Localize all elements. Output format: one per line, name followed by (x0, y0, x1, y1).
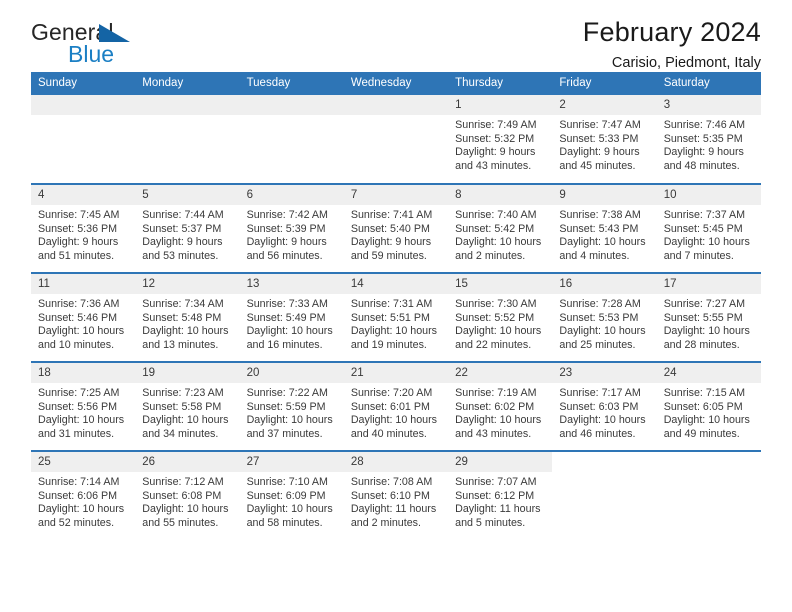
sun-info-line: and 46 minutes. (559, 428, 650, 442)
sun-info-line: Sunrise: 7:22 AM (247, 387, 338, 401)
day-cell-body: 9Sunrise: 7:38 AMSunset: 5:43 PMDaylight… (552, 185, 656, 272)
sun-info-line: Sunrise: 7:49 AM (455, 119, 546, 133)
sun-info-line: and 4 minutes. (559, 250, 650, 264)
sun-info-line: Sunset: 5:33 PM (559, 133, 650, 147)
day-number: 6 (240, 185, 344, 205)
day-cell-body: 17Sunrise: 7:27 AMSunset: 5:55 PMDayligh… (657, 274, 761, 361)
weekday-monday: Monday (135, 72, 239, 95)
calendar-day-cell[interactable]: 24Sunrise: 7:15 AMSunset: 6:05 PMDayligh… (657, 362, 761, 451)
day-cell-body: 1Sunrise: 7:49 AMSunset: 5:32 PMDaylight… (448, 95, 552, 182)
day-cell-body: 12Sunrise: 7:34 AMSunset: 5:48 PMDayligh… (135, 274, 239, 361)
sun-info-line: and 52 minutes. (38, 517, 129, 531)
day-cell-body: 29Sunrise: 7:07 AMSunset: 6:12 PMDayligh… (448, 452, 552, 539)
sun-info: Sunrise: 7:14 AMSunset: 6:06 PMDaylight:… (31, 472, 135, 530)
sun-info-line: Sunset: 5:32 PM (455, 133, 546, 147)
sun-info: Sunrise: 7:45 AMSunset: 5:36 PMDaylight:… (31, 205, 135, 263)
sun-info-line: Sunrise: 7:38 AM (559, 209, 650, 223)
calendar-day-cell[interactable]: 29Sunrise: 7:07 AMSunset: 6:12 PMDayligh… (448, 451, 552, 540)
sun-info-line: and 10 minutes. (38, 339, 129, 353)
sun-info: Sunrise: 7:22 AMSunset: 5:59 PMDaylight:… (240, 383, 344, 441)
day-cell-body: 8Sunrise: 7:40 AMSunset: 5:42 PMDaylight… (448, 185, 552, 272)
sun-info-line: Daylight: 10 hours (351, 325, 442, 339)
calendar-day-cell[interactable]: 8Sunrise: 7:40 AMSunset: 5:42 PMDaylight… (448, 184, 552, 273)
day-number: 9 (552, 185, 656, 205)
sun-info: Sunrise: 7:23 AMSunset: 5:58 PMDaylight:… (135, 383, 239, 441)
day-number: 20 (240, 363, 344, 383)
sun-info-line: Sunset: 6:05 PM (664, 401, 755, 415)
day-cell-body: 26Sunrise: 7:12 AMSunset: 6:08 PMDayligh… (135, 452, 239, 539)
day-cell-body: 13Sunrise: 7:33 AMSunset: 5:49 PMDayligh… (240, 274, 344, 361)
day-number: 13 (240, 274, 344, 294)
calendar-week-row: 25Sunrise: 7:14 AMSunset: 6:06 PMDayligh… (31, 451, 761, 540)
sun-info-line: Daylight: 10 hours (38, 503, 129, 517)
day-number: 23 (552, 363, 656, 383)
sun-info-line: Daylight: 10 hours (142, 503, 233, 517)
day-number (31, 95, 135, 115)
sun-info-line: and 16 minutes. (247, 339, 338, 353)
sun-info: Sunrise: 7:41 AMSunset: 5:40 PMDaylight:… (344, 205, 448, 263)
sun-info: Sunrise: 7:19 AMSunset: 6:02 PMDaylight:… (448, 383, 552, 441)
calendar-week-row: 4Sunrise: 7:45 AMSunset: 5:36 PMDaylight… (31, 184, 761, 273)
calendar-day-cell[interactable]: 4Sunrise: 7:45 AMSunset: 5:36 PMDaylight… (31, 184, 135, 273)
sun-info-line: Daylight: 10 hours (559, 414, 650, 428)
calendar-day-cell[interactable]: 1Sunrise: 7:49 AMSunset: 5:32 PMDaylight… (448, 95, 552, 184)
sun-info-line: Sunset: 5:35 PM (664, 133, 755, 147)
sun-info-line: Sunset: 5:45 PM (664, 223, 755, 237)
sun-info-line: Sunrise: 7:37 AM (664, 209, 755, 223)
sun-info-line: Daylight: 10 hours (664, 236, 755, 250)
sun-info-line: Sunrise: 7:17 AM (559, 387, 650, 401)
page-title: February 2024 (583, 16, 761, 48)
calendar-day-cell (657, 451, 761, 540)
day-number: 3 (657, 95, 761, 115)
calendar-day-cell[interactable]: 23Sunrise: 7:17 AMSunset: 6:03 PMDayligh… (552, 362, 656, 451)
sun-info-line: Daylight: 9 hours (247, 236, 338, 250)
sun-info-line: Daylight: 11 hours (351, 503, 442, 517)
sun-info-line: Sunset: 5:58 PM (142, 401, 233, 415)
calendar-day-cell[interactable]: 28Sunrise: 7:08 AMSunset: 6:10 PMDayligh… (344, 451, 448, 540)
sun-info-line: and 25 minutes. (559, 339, 650, 353)
sun-info-line: Sunset: 6:03 PM (559, 401, 650, 415)
calendar-day-cell[interactable]: 12Sunrise: 7:34 AMSunset: 5:48 PMDayligh… (135, 273, 239, 362)
day-number (552, 452, 656, 472)
sun-info: Sunrise: 7:10 AMSunset: 6:09 PMDaylight:… (240, 472, 344, 530)
sun-info: Sunrise: 7:33 AMSunset: 5:49 PMDaylight:… (240, 294, 344, 352)
sun-info-line: Sunrise: 7:36 AM (38, 298, 129, 312)
day-cell-body: 15Sunrise: 7:30 AMSunset: 5:52 PMDayligh… (448, 274, 552, 361)
sun-info-line: and 5 minutes. (455, 517, 546, 531)
sun-info-line: Daylight: 10 hours (455, 325, 546, 339)
sun-info-line: Sunset: 5:59 PM (247, 401, 338, 415)
sun-info-line: Sunset: 5:48 PM (142, 312, 233, 326)
sun-info-line: Sunrise: 7:12 AM (142, 476, 233, 490)
calendar-week-row: 11Sunrise: 7:36 AMSunset: 5:46 PMDayligh… (31, 273, 761, 362)
sun-info: Sunrise: 7:37 AMSunset: 5:45 PMDaylight:… (657, 205, 761, 263)
sun-info-line: and 59 minutes. (351, 250, 442, 264)
calendar-day-cell[interactable]: 9Sunrise: 7:38 AMSunset: 5:43 PMDaylight… (552, 184, 656, 273)
calendar-week-row: 18Sunrise: 7:25 AMSunset: 5:56 PMDayligh… (31, 362, 761, 451)
day-number: 17 (657, 274, 761, 294)
sun-info-line: Sunset: 5:52 PM (455, 312, 546, 326)
calendar-day-cell (344, 95, 448, 184)
day-number: 2 (552, 95, 656, 115)
sun-info-line: Sunset: 5:36 PM (38, 223, 129, 237)
calendar-day-cell[interactable]: 11Sunrise: 7:36 AMSunset: 5:46 PMDayligh… (31, 273, 135, 362)
day-cell-body (240, 95, 344, 182)
calendar-day-cell[interactable]: 18Sunrise: 7:25 AMSunset: 5:56 PMDayligh… (31, 362, 135, 451)
weekday-saturday: Saturday (657, 72, 761, 95)
day-number: 26 (135, 452, 239, 472)
day-cell-body (657, 452, 761, 539)
sun-info-line: Daylight: 10 hours (247, 503, 338, 517)
sun-info: Sunrise: 7:07 AMSunset: 6:12 PMDaylight:… (448, 472, 552, 530)
sun-info-line: Daylight: 10 hours (664, 325, 755, 339)
sun-info: Sunrise: 7:40 AMSunset: 5:42 PMDaylight:… (448, 205, 552, 263)
sun-info: Sunrise: 7:28 AMSunset: 5:53 PMDaylight:… (552, 294, 656, 352)
sun-info-line: Daylight: 10 hours (247, 325, 338, 339)
sun-info-line: Sunrise: 7:31 AM (351, 298, 442, 312)
day-number: 24 (657, 363, 761, 383)
day-number: 5 (135, 185, 239, 205)
day-cell-body: 25Sunrise: 7:14 AMSunset: 6:06 PMDayligh… (31, 452, 135, 539)
sun-info-line: Sunset: 5:37 PM (142, 223, 233, 237)
sun-info-line: Daylight: 11 hours (455, 503, 546, 517)
sun-info-line: Daylight: 9 hours (38, 236, 129, 250)
sun-info-line: Sunset: 6:10 PM (351, 490, 442, 504)
sun-info-line: and 56 minutes. (247, 250, 338, 264)
sun-info: Sunrise: 7:20 AMSunset: 6:01 PMDaylight:… (344, 383, 448, 441)
sun-info-line: Sunset: 6:01 PM (351, 401, 442, 415)
sun-info: Sunrise: 7:36 AMSunset: 5:46 PMDaylight:… (31, 294, 135, 352)
sun-info-line: and 19 minutes. (351, 339, 442, 353)
day-number: 29 (448, 452, 552, 472)
sun-info-line: Sunset: 6:08 PM (142, 490, 233, 504)
weekday-tuesday: Tuesday (240, 72, 344, 95)
day-cell-body: 3Sunrise: 7:46 AMSunset: 5:35 PMDaylight… (657, 95, 761, 182)
sun-info-line: Sunset: 6:06 PM (38, 490, 129, 504)
sun-info-line: and 48 minutes. (664, 160, 755, 174)
sun-info-line: Daylight: 10 hours (38, 325, 129, 339)
sun-info: Sunrise: 7:38 AMSunset: 5:43 PMDaylight:… (552, 205, 656, 263)
brand-logo[interactable]: General Blue (31, 12, 231, 68)
calendar-day-cell[interactable]: 27Sunrise: 7:10 AMSunset: 6:09 PMDayligh… (240, 451, 344, 540)
day-number: 11 (31, 274, 135, 294)
day-number: 21 (344, 363, 448, 383)
day-cell-body: 16Sunrise: 7:28 AMSunset: 5:53 PMDayligh… (552, 274, 656, 361)
sun-info-line: and 43 minutes. (455, 428, 546, 442)
sun-info-line: and 58 minutes. (247, 517, 338, 531)
sun-info-line: Sunset: 5:56 PM (38, 401, 129, 415)
sun-info-line: and 31 minutes. (38, 428, 129, 442)
location-subtitle: Carisio, Piedmont, Italy (583, 53, 761, 73)
brand-name-blue: Blue (68, 43, 231, 65)
calendar-day-cell[interactable]: 3Sunrise: 7:46 AMSunset: 5:35 PMDaylight… (657, 95, 761, 184)
sun-info-line: and 2 minutes. (455, 250, 546, 264)
sun-info-line: Daylight: 9 hours (351, 236, 442, 250)
sun-info-line: Sunset: 6:02 PM (455, 401, 546, 415)
day-cell-body: 19Sunrise: 7:23 AMSunset: 5:58 PMDayligh… (135, 363, 239, 450)
day-cell-body: 23Sunrise: 7:17 AMSunset: 6:03 PMDayligh… (552, 363, 656, 450)
sun-info: Sunrise: 7:17 AMSunset: 6:03 PMDaylight:… (552, 383, 656, 441)
sun-info-line: and 53 minutes. (142, 250, 233, 264)
day-cell-body (31, 95, 135, 182)
sun-info-line: Sunset: 5:43 PM (559, 223, 650, 237)
day-cell-body (135, 95, 239, 182)
sun-info-line: Daylight: 10 hours (559, 236, 650, 250)
day-number: 25 (31, 452, 135, 472)
sun-info-line: Sunrise: 7:42 AM (247, 209, 338, 223)
day-number: 8 (448, 185, 552, 205)
sun-info-line: Sunset: 5:39 PM (247, 223, 338, 237)
sun-info-line: and 28 minutes. (664, 339, 755, 353)
calendar-day-cell[interactable]: 10Sunrise: 7:37 AMSunset: 5:45 PMDayligh… (657, 184, 761, 273)
sun-info-line: Sunset: 6:09 PM (247, 490, 338, 504)
sun-info: Sunrise: 7:25 AMSunset: 5:56 PMDaylight:… (31, 383, 135, 441)
day-cell-body: 4Sunrise: 7:45 AMSunset: 5:36 PMDaylight… (31, 185, 135, 272)
day-number (657, 452, 761, 472)
day-number: 22 (448, 363, 552, 383)
calendar-body: 1Sunrise: 7:49 AMSunset: 5:32 PMDaylight… (31, 95, 761, 540)
sun-info-line: Sunset: 5:55 PM (664, 312, 755, 326)
sun-info-line: Sunrise: 7:47 AM (559, 119, 650, 133)
sun-info-line: Daylight: 9 hours (664, 146, 755, 160)
weekday-friday: Friday (552, 72, 656, 95)
sun-info-line: Sunset: 5:42 PM (455, 223, 546, 237)
day-number: 19 (135, 363, 239, 383)
day-cell-body: 20Sunrise: 7:22 AMSunset: 5:59 PMDayligh… (240, 363, 344, 450)
calendar-table: Sunday Monday Tuesday Wednesday Thursday… (31, 72, 761, 541)
sun-info-line: and 55 minutes. (142, 517, 233, 531)
day-number: 15 (448, 274, 552, 294)
page-header: General Blue February 2024 Carisio, Pied… (31, 0, 761, 72)
sun-info: Sunrise: 7:34 AMSunset: 5:48 PMDaylight:… (135, 294, 239, 352)
calendar-day-cell[interactable]: 13Sunrise: 7:33 AMSunset: 5:49 PMDayligh… (240, 273, 344, 362)
sun-info-line: and 43 minutes. (455, 160, 546, 174)
sun-info: Sunrise: 7:08 AMSunset: 6:10 PMDaylight:… (344, 472, 448, 530)
calendar-day-cell[interactable]: 15Sunrise: 7:30 AMSunset: 5:52 PMDayligh… (448, 273, 552, 362)
day-cell-body: 22Sunrise: 7:19 AMSunset: 6:02 PMDayligh… (448, 363, 552, 450)
day-cell-body: 27Sunrise: 7:10 AMSunset: 6:09 PMDayligh… (240, 452, 344, 539)
day-cell-body (344, 95, 448, 182)
weekday-thursday: Thursday (448, 72, 552, 95)
day-number: 27 (240, 452, 344, 472)
calendar-day-cell (135, 95, 239, 184)
sun-info-line: and 2 minutes. (351, 517, 442, 531)
sun-info-line: Sunrise: 7:40 AM (455, 209, 546, 223)
calendar-day-cell[interactable]: 21Sunrise: 7:20 AMSunset: 6:01 PMDayligh… (344, 362, 448, 451)
day-cell-body: 21Sunrise: 7:20 AMSunset: 6:01 PMDayligh… (344, 363, 448, 450)
day-cell-body: 7Sunrise: 7:41 AMSunset: 5:40 PMDaylight… (344, 185, 448, 272)
weekday-header-row: Sunday Monday Tuesday Wednesday Thursday… (31, 72, 761, 95)
sun-info-line: Sunrise: 7:07 AM (455, 476, 546, 490)
day-number: 28 (344, 452, 448, 472)
sun-info-line: and 37 minutes. (247, 428, 338, 442)
calendar-day-cell[interactable]: 14Sunrise: 7:31 AMSunset: 5:51 PMDayligh… (344, 273, 448, 362)
day-cell-body: 14Sunrise: 7:31 AMSunset: 5:51 PMDayligh… (344, 274, 448, 361)
sun-info-line: Sunrise: 7:25 AM (38, 387, 129, 401)
day-number (344, 95, 448, 115)
calendar-day-cell (552, 451, 656, 540)
sun-info-line: Daylight: 10 hours (142, 414, 233, 428)
sun-info: Sunrise: 7:31 AMSunset: 5:51 PMDaylight:… (344, 294, 448, 352)
calendar-day-cell[interactable]: 17Sunrise: 7:27 AMSunset: 5:55 PMDayligh… (657, 273, 761, 362)
sun-info-line: Sunrise: 7:08 AM (351, 476, 442, 490)
sun-info-line: Sunrise: 7:14 AM (38, 476, 129, 490)
sun-info: Sunrise: 7:15 AMSunset: 6:05 PMDaylight:… (657, 383, 761, 441)
sun-info-line: Daylight: 10 hours (247, 414, 338, 428)
sun-info-line: Sunrise: 7:33 AM (247, 298, 338, 312)
weekday-wednesday: Wednesday (344, 72, 448, 95)
day-number: 16 (552, 274, 656, 294)
sun-info: Sunrise: 7:49 AMSunset: 5:32 PMDaylight:… (448, 115, 552, 173)
day-cell-body: 18Sunrise: 7:25 AMSunset: 5:56 PMDayligh… (31, 363, 135, 450)
sun-info-line: Daylight: 9 hours (142, 236, 233, 250)
sun-info-line: Sunrise: 7:19 AM (455, 387, 546, 401)
sun-info-line: Sunset: 5:53 PM (559, 312, 650, 326)
sun-info-line: and 45 minutes. (559, 160, 650, 174)
sun-info-line: Daylight: 10 hours (664, 414, 755, 428)
day-cell-body: 10Sunrise: 7:37 AMSunset: 5:45 PMDayligh… (657, 185, 761, 272)
sun-info: Sunrise: 7:27 AMSunset: 5:55 PMDaylight:… (657, 294, 761, 352)
sun-info-line: and 13 minutes. (142, 339, 233, 353)
sun-info-line: Sunset: 5:40 PM (351, 223, 442, 237)
sun-info-line: Daylight: 9 hours (455, 146, 546, 160)
sun-info: Sunrise: 7:42 AMSunset: 5:39 PMDaylight:… (240, 205, 344, 263)
sun-info-line: and 40 minutes. (351, 428, 442, 442)
calendar-day-cell[interactable]: 20Sunrise: 7:22 AMSunset: 5:59 PMDayligh… (240, 362, 344, 451)
sun-info-line: Sunrise: 7:20 AM (351, 387, 442, 401)
sun-info-line: Sunrise: 7:46 AM (664, 119, 755, 133)
sun-info-line: Daylight: 10 hours (351, 414, 442, 428)
calendar-day-cell[interactable]: 22Sunrise: 7:19 AMSunset: 6:02 PMDayligh… (448, 362, 552, 451)
calendar-day-cell[interactable]: 7Sunrise: 7:41 AMSunset: 5:40 PMDaylight… (344, 184, 448, 273)
sun-info-line: and 7 minutes. (664, 250, 755, 264)
sun-info-line: Sunrise: 7:41 AM (351, 209, 442, 223)
calendar-day-cell[interactable]: 26Sunrise: 7:12 AMSunset: 6:08 PMDayligh… (135, 451, 239, 540)
calendar-day-cell[interactable]: 25Sunrise: 7:14 AMSunset: 6:06 PMDayligh… (31, 451, 135, 540)
sun-info-line: Daylight: 10 hours (455, 414, 546, 428)
day-cell-body: 5Sunrise: 7:44 AMSunset: 5:37 PMDaylight… (135, 185, 239, 272)
sun-info-line: Sunset: 5:51 PM (351, 312, 442, 326)
day-number (135, 95, 239, 115)
sun-info: Sunrise: 7:46 AMSunset: 5:35 PMDaylight:… (657, 115, 761, 173)
sun-info-line: and 51 minutes. (38, 250, 129, 264)
day-number: 1 (448, 95, 552, 115)
day-number: 14 (344, 274, 448, 294)
sun-info-line: Sunrise: 7:44 AM (142, 209, 233, 223)
sun-info-line: Daylight: 10 hours (142, 325, 233, 339)
title-block: February 2024 Carisio, Piedmont, Italy (583, 12, 761, 73)
brand-triangle-icon (99, 24, 130, 42)
calendar-day-cell[interactable]: 5Sunrise: 7:44 AMSunset: 5:37 PMDaylight… (135, 184, 239, 273)
sun-info-line: Sunrise: 7:34 AM (142, 298, 233, 312)
day-number: 7 (344, 185, 448, 205)
day-cell-body: 24Sunrise: 7:15 AMSunset: 6:05 PMDayligh… (657, 363, 761, 450)
calendar-day-cell[interactable]: 6Sunrise: 7:42 AMSunset: 5:39 PMDaylight… (240, 184, 344, 273)
sun-info-line: Daylight: 10 hours (559, 325, 650, 339)
sun-info-line: Sunrise: 7:23 AM (142, 387, 233, 401)
sun-info-line: Daylight: 10 hours (38, 414, 129, 428)
day-number: 18 (31, 363, 135, 383)
calendar-day-cell[interactable]: 19Sunrise: 7:23 AMSunset: 5:58 PMDayligh… (135, 362, 239, 451)
day-cell-body: 2Sunrise: 7:47 AMSunset: 5:33 PMDaylight… (552, 95, 656, 182)
weekday-sunday: Sunday (31, 72, 135, 95)
sun-info-line: Sunset: 5:49 PM (247, 312, 338, 326)
sun-info: Sunrise: 7:47 AMSunset: 5:33 PMDaylight:… (552, 115, 656, 173)
day-number: 10 (657, 185, 761, 205)
day-number: 12 (135, 274, 239, 294)
sun-info-line: Sunrise: 7:10 AM (247, 476, 338, 490)
calendar-day-cell (31, 95, 135, 184)
sun-info: Sunrise: 7:12 AMSunset: 6:08 PMDaylight:… (135, 472, 239, 530)
sun-info-line: Sunrise: 7:45 AM (38, 209, 129, 223)
sun-info-line: and 49 minutes. (664, 428, 755, 442)
day-number (240, 95, 344, 115)
sun-info-line: and 34 minutes. (142, 428, 233, 442)
sun-info-line: Sunrise: 7:15 AM (664, 387, 755, 401)
calendar-day-cell[interactable]: 16Sunrise: 7:28 AMSunset: 5:53 PMDayligh… (552, 273, 656, 362)
calendar-week-row: 1Sunrise: 7:49 AMSunset: 5:32 PMDaylight… (31, 95, 761, 184)
sun-info-line: Daylight: 9 hours (559, 146, 650, 160)
day-number: 4 (31, 185, 135, 205)
sun-info-line: Sunset: 6:12 PM (455, 490, 546, 504)
day-cell-body (552, 452, 656, 539)
sun-info-line: Sunrise: 7:27 AM (664, 298, 755, 312)
day-cell-body: 6Sunrise: 7:42 AMSunset: 5:39 PMDaylight… (240, 185, 344, 272)
calendar-day-cell[interactable]: 2Sunrise: 7:47 AMSunset: 5:33 PMDaylight… (552, 95, 656, 184)
sun-info-line: Sunrise: 7:28 AM (559, 298, 650, 312)
calendar-day-cell (240, 95, 344, 184)
sun-info-line: Sunset: 5:46 PM (38, 312, 129, 326)
sun-info-line: and 22 minutes. (455, 339, 546, 353)
sun-info: Sunrise: 7:44 AMSunset: 5:37 PMDaylight:… (135, 205, 239, 263)
calendar-page: General Blue February 2024 Carisio, Pied… (0, 0, 792, 612)
day-cell-body: 28Sunrise: 7:08 AMSunset: 6:10 PMDayligh… (344, 452, 448, 539)
sun-info-line: Daylight: 10 hours (455, 236, 546, 250)
sun-info-line: Sunrise: 7:30 AM (455, 298, 546, 312)
day-cell-body: 11Sunrise: 7:36 AMSunset: 5:46 PMDayligh… (31, 274, 135, 361)
sun-info: Sunrise: 7:30 AMSunset: 5:52 PMDaylight:… (448, 294, 552, 352)
